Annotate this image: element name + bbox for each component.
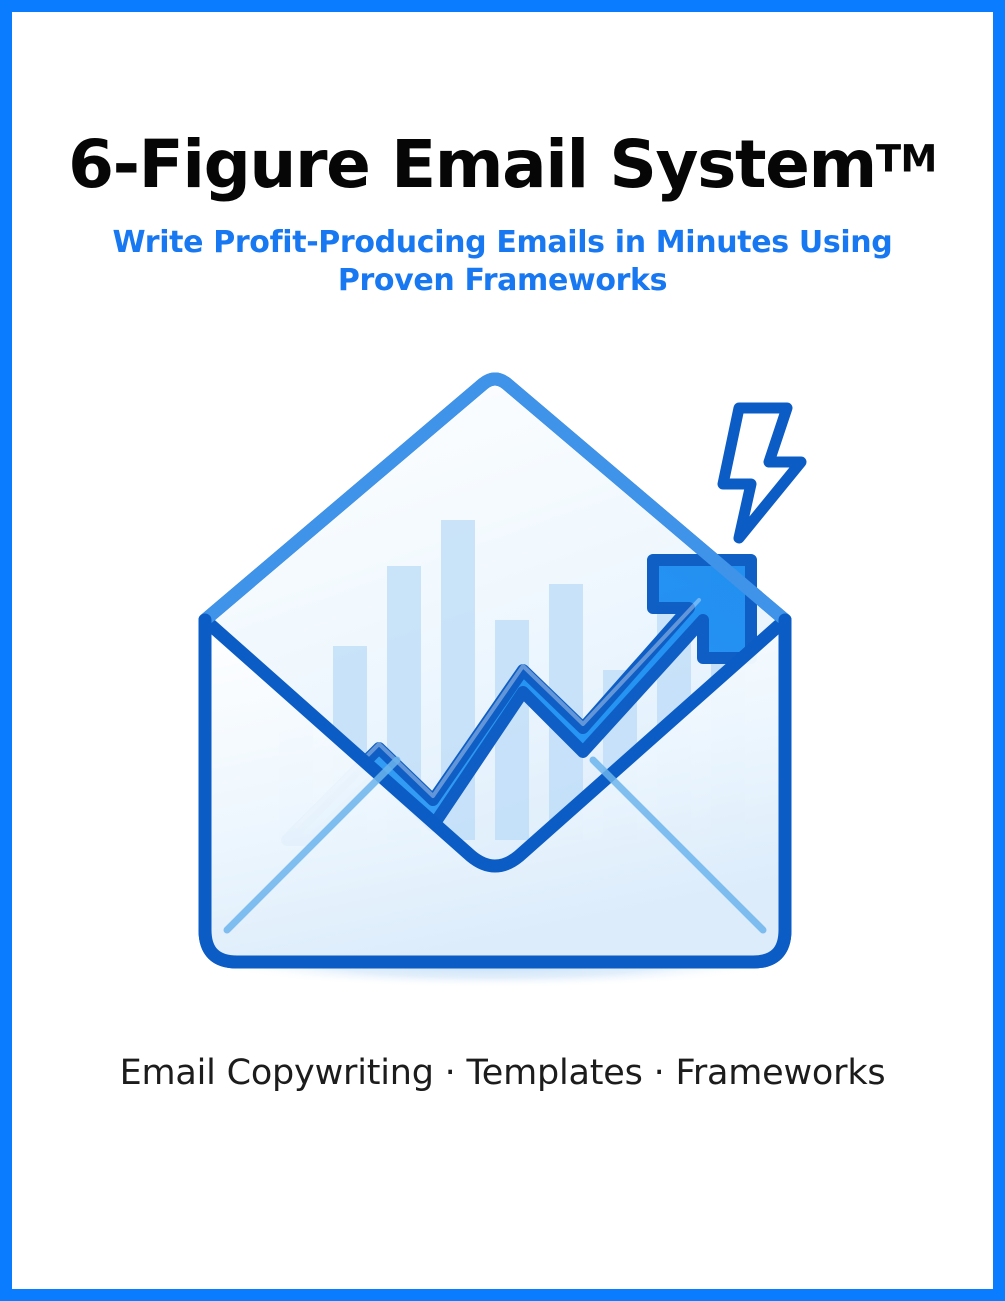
envelope-growth-arrow-icon [183,370,823,1020]
footer-tagline: Email Copywriting · Templates · Framewor… [58,1052,947,1094]
book-subtitle: Write Profit-Producing Emails in Minutes… [88,224,918,300]
title-block: 6-Figure Email SystemTM Write Profit-Pro… [12,132,993,300]
book-cover: 6-Figure Email SystemTM Write Profit-Pro… [0,0,1005,1301]
footer-block: Email Copywriting · Templates · Framewor… [12,1052,993,1094]
trademark-symbol: TM [876,137,937,180]
subtitle-line-2: Proven Frameworks [338,263,667,298]
lightning-bolt-icon [723,408,801,538]
book-title-text: 6-Figure Email System [68,126,876,203]
subtitle-line-1: Write Profit-Producing Emails in Minutes… [113,225,893,260]
cover-inner-panel: 6-Figure Email SystemTM Write Profit-Pro… [12,12,993,1289]
page-title: 6-Figure Email SystemTM [58,132,947,198]
